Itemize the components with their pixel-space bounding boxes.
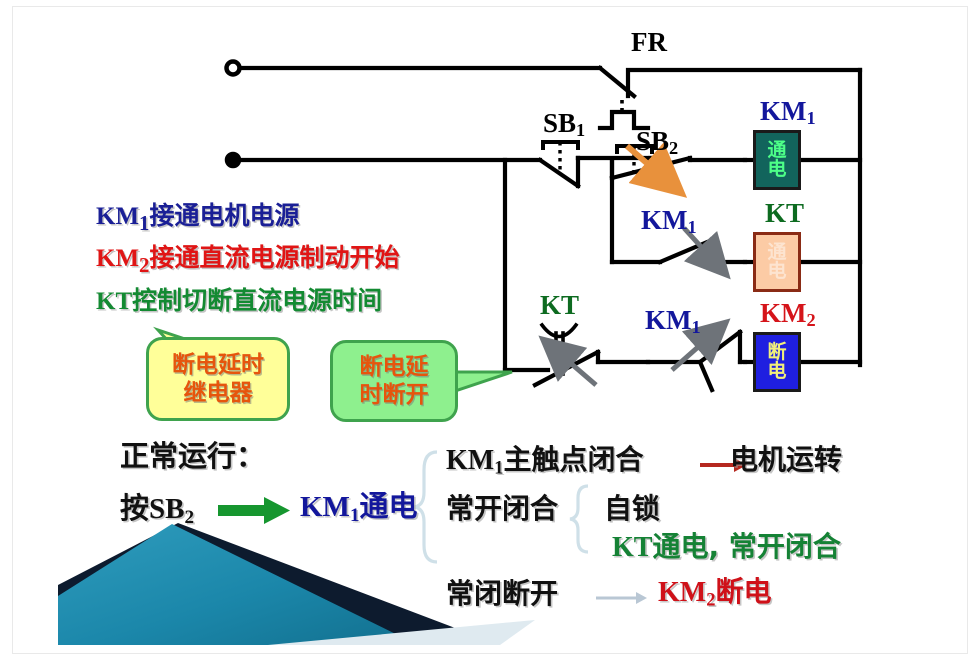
callout-delay: 断电延 时断开 [330,340,458,422]
km2-coil-box: 断 电 [753,332,801,392]
kt-coil-label: KT [765,200,804,227]
note-line-km1: KM1接通电机电源 [96,196,299,236]
no-contact-close-label: 常开闭合 [446,495,558,523]
press-sb2-label: 按SB2 [120,494,194,527]
terminal-top [227,62,240,75]
kt-energized-label: KT通电, 常开闭合 [612,533,841,562]
km1-nc-contact-label: KM1 [645,307,701,336]
note-line-km2: KM2接通直流电源制动开始 [96,238,399,278]
nc-contact-open-label: 常闭断开 [446,580,558,608]
sb2-label: SB2 [636,128,678,157]
km2-deenergized-label: KM2断电 [658,578,771,609]
self-lock-label: 自锁 [604,495,660,523]
slide-canvas: FR SB1 SB2 KM1 KM1 KT KM1 通 电 KT 通 电 KM2… [0,0,980,660]
terminal-bottom [227,154,239,166]
motor-running-label: 电机运转 [730,446,842,474]
kt-contact-arrow-icon [546,342,596,385]
kt-coil-box: 通 电 [753,232,801,292]
note-line-kt: KT控制切断直流电源时间 [96,281,382,317]
km1-energized-label: KM1通电 [300,492,418,525]
km2-coil-label: KM2 [760,300,816,329]
explanation-sub-brace [570,486,588,552]
fr-label: FR [631,29,667,56]
callout-relay: 断电延时 继电器 [146,337,290,421]
normal-run-label: 正常运行： [120,442,265,471]
km1-coil-box: 通 电 [753,130,801,190]
green-arrow-icon [218,496,292,526]
callout-delay-tail [452,372,512,392]
km1-holding-contact-label: KM1 [641,207,697,236]
km1-coil-label: KM1 [760,98,816,127]
kt-contact-label: KT [540,292,579,319]
light-arrow-icon [596,590,648,606]
main-contact-close-label: KM1主触点闭合 [446,446,643,477]
sb1-label: SB1 [543,110,585,139]
